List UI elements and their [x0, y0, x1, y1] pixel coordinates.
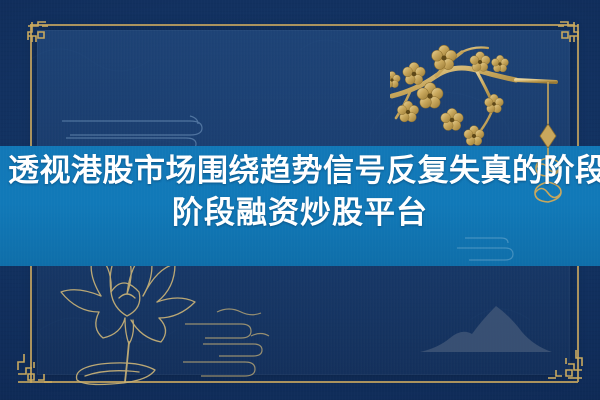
banner-title: 透视港股市场围绕趋势信号反复失真的阶段的交易 阶段融资炒股平台: [0, 150, 600, 234]
frame-line-top: [30, 24, 575, 26]
banner-title-line-1: 透视港股市场围绕趋势信号反复失真的阶段的交易: [8, 150, 592, 192]
greek-key-corner-ornament-bottom-left: [14, 352, 54, 388]
greek-key-corner-ornament-top-left: [24, 18, 58, 52]
greek-key-corner-ornament-top-right: [548, 18, 582, 52]
banner-image: 透视港股市场围绕趋势信号反复失真的阶段的交易 阶段融资炒股平台: [0, 0, 600, 400]
greek-key-corner-ornament-bottom-right: [546, 348, 586, 384]
banner-title-line-2: 阶段融资炒股平台: [8, 192, 592, 234]
frame-line-bottom: [30, 381, 578, 383]
